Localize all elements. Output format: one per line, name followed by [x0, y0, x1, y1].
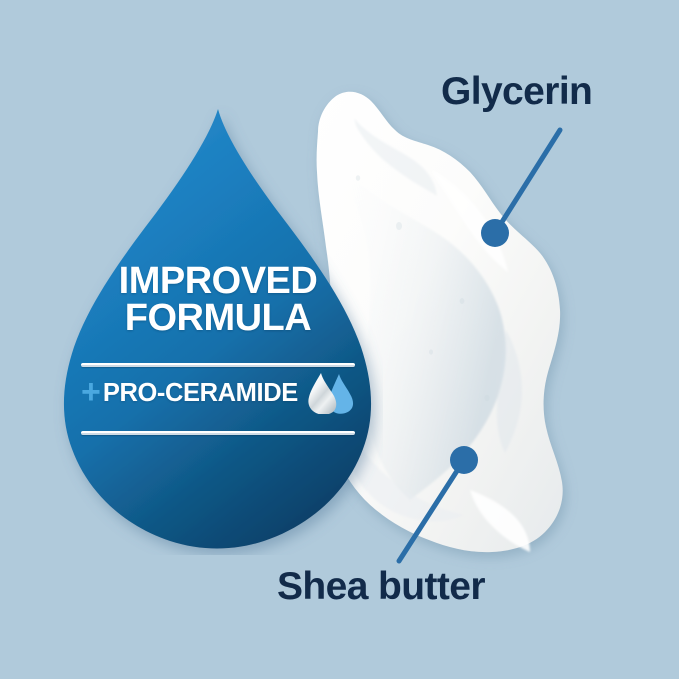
- droplet-pair-icon: [304, 372, 356, 414]
- callout-label-glycerin: Glycerin: [441, 70, 592, 114]
- callout-label-shea-butter: Shea butter: [277, 565, 485, 609]
- infographic-canvas: IMPROVED FORMULA + PRO-CERAMIDE: [0, 0, 679, 679]
- divider-top: [81, 363, 355, 367]
- pro-ceramide-label: PRO-CERAMIDE: [103, 379, 298, 408]
- divider-bottom: [81, 431, 355, 435]
- plus-icon: +: [81, 375, 101, 409]
- headline-line-1: IMPROVED: [119, 260, 318, 302]
- improved-formula-badge: IMPROVED FORMULA + PRO-CERAMIDE: [53, 105, 383, 555]
- callout-dot-shea-butter: [450, 446, 478, 474]
- callout-glycerin-leader: [481, 130, 560, 247]
- headline-line-2: FORMULA: [119, 300, 318, 337]
- badge-content: IMPROVED FORMULA + PRO-CERAMIDE: [53, 105, 383, 555]
- callout-dot-glycerin: [481, 219, 509, 247]
- callout-shea-leader: [399, 446, 478, 561]
- water-droplet-silver-icon: [308, 373, 336, 414]
- badge-headline: IMPROVED FORMULA: [119, 263, 318, 337]
- pro-ceramide-row: + PRO-CERAMIDE: [81, 378, 355, 408]
